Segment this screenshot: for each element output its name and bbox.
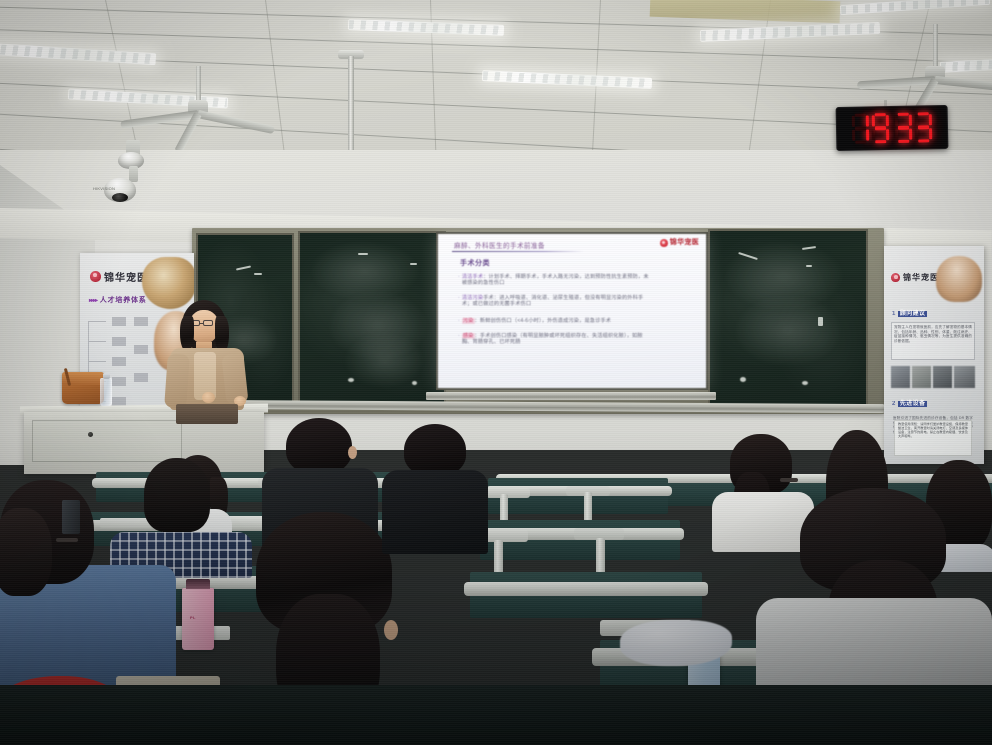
bullet-text: ：手术创伤口感染（有明显脓肿或坏死组织存在、失活组织化脓），如脓胸、胃肠穿孔、已… xyxy=(462,333,643,345)
clock-minutes xyxy=(895,112,933,143)
bench-arm xyxy=(486,488,530,498)
bench-rail xyxy=(464,582,708,596)
blackboard-panel-2 xyxy=(298,231,446,406)
brand-mark-icon xyxy=(891,273,900,282)
banner-section-2-title: 2 先进设备 xyxy=(892,398,927,407)
student-ear xyxy=(384,620,398,640)
wall-notice-sign: 教室使用须知：请同学们爱护教室设施，保持教室整洁卫生，离开教室时请关闭电灯、空调… xyxy=(894,420,972,456)
bullet-keyword: 污染 xyxy=(462,318,475,324)
bench-post xyxy=(584,492,592,522)
handbag xyxy=(62,372,104,404)
student-hair xyxy=(404,424,466,476)
ceiling-vent xyxy=(650,0,841,23)
lecturer-skirt xyxy=(176,404,238,424)
student-ear xyxy=(348,446,357,459)
student-glasses-arm xyxy=(780,478,798,482)
arrow-icon: ▸▸▸▸ xyxy=(89,298,97,304)
pink-water-bottle: PL xyxy=(182,588,214,650)
clock-digit xyxy=(852,113,870,143)
slide-bullet: · 污染：新鲜创伤伤口（<4-6小时），外伤造成污染，是急诊手术 xyxy=(458,318,611,324)
brand-mark-icon xyxy=(660,239,668,247)
dark-water-bottle xyxy=(62,500,80,534)
student xyxy=(128,452,224,548)
clock-digit xyxy=(872,113,890,143)
banner-section-1-label: 顾问建议 xyxy=(898,311,928,317)
banner-thumbnail xyxy=(933,366,952,388)
student-glasses-arm xyxy=(56,538,78,542)
bottle-cap xyxy=(103,373,110,379)
floor xyxy=(0,685,992,745)
bullet-dot-icon: · xyxy=(458,274,460,280)
bullet-text: 手术：进入呼吸道、消化道、泌尿生殖道，但没有明显污染的外科手术；或已做过的无菌手… xyxy=(462,295,644,307)
banner-section-2-label: 先进设备 xyxy=(898,401,928,407)
glasses-icon xyxy=(203,320,213,326)
lecturer xyxy=(160,300,260,420)
bullet-text: ：计划手术、择期手术，手术入路无污染，达到预防性抗生素预防，未被感染的急性伤口 xyxy=(462,274,649,286)
slide-heading: 手术分类 xyxy=(460,258,490,268)
banner-thumbnail xyxy=(954,366,975,388)
bullet-dot-icon: · xyxy=(458,333,460,339)
slide-title: 麻醉、外科医生的手术前准备 xyxy=(454,240,545,250)
clock-hours xyxy=(852,113,890,144)
banner-left-logo: 锦华宠医 xyxy=(90,269,148,284)
banner-left-subtitle-text: 人才培养体系 xyxy=(100,297,147,304)
banner-thumbnail xyxy=(891,366,910,388)
bullet-dot-icon: · xyxy=(458,295,460,301)
clock-digit xyxy=(895,113,913,143)
glasses-bridge-icon xyxy=(200,323,203,324)
student-body xyxy=(382,470,488,554)
banner-section-1-number: 1 xyxy=(892,311,896,317)
student-hair xyxy=(286,418,352,474)
camera-bracket xyxy=(129,166,138,182)
blackboard-panel-3 xyxy=(708,229,868,409)
slide-brand-logo: 锦华宠医 xyxy=(660,239,699,247)
slide-title-rule xyxy=(452,251,584,252)
ceiling-fan xyxy=(850,24,992,94)
bullet-dot-icon: · xyxy=(458,318,460,324)
water-bottle xyxy=(100,378,112,406)
slide-logo-text: 锦华宠医 xyxy=(670,239,699,247)
bench-post xyxy=(596,538,605,576)
banner-section-1-body: 宠物主人在宠物就医前，应先了解宠物的基本情况，包括年龄、品种、性别、体重、既往病… xyxy=(894,325,972,343)
ceiling-light-strip xyxy=(348,19,504,36)
slide-bullet: · 清洁污染手术：进入呼吸道、消化道、泌尿生殖道，但没有明显污染的外科手术；或已… xyxy=(458,295,650,308)
brand-mark-icon xyxy=(90,271,101,282)
student-hair xyxy=(144,458,210,532)
digital-clock xyxy=(836,105,949,151)
banner-section-1-title: 1 顾问建议 xyxy=(892,308,927,317)
slide-bullet: · 感染：手术创伤口感染（有明显脓肿或坏死组织存在、失活组织化脓），如脓胸、胃肠… xyxy=(458,333,650,346)
white-cloth xyxy=(620,620,732,666)
lecture-hall-photo: HIKVISION xyxy=(0,0,992,745)
podium-knob xyxy=(88,432,93,437)
bottle-cap xyxy=(186,579,210,589)
banner-pet-photo xyxy=(936,256,982,302)
camera-lens-icon xyxy=(112,193,128,202)
camera-brand-label: HIKVISION xyxy=(93,186,115,191)
slide-bullet: · 清洁手术：计划手术、择期手术，手术入路无污染，达到预防性抗生素预防，未被感染… xyxy=(458,274,650,287)
projection-screen: 锦华宠医 麻醉、外科医生的手术前准备 手术分类 · 清洁手术：计划手术、择期手术… xyxy=(436,232,708,390)
banner-section-2-number: 2 xyxy=(892,401,896,407)
banner-right-logo-text: 锦华宠医 xyxy=(903,272,939,283)
student xyxy=(0,508,54,598)
lecturer-hand xyxy=(202,392,215,403)
ceiling-fan xyxy=(118,66,278,136)
banner-left-subtitle: ▸▸▸▸ 人才培养体系 xyxy=(89,295,147,305)
ceiling-light-strip xyxy=(840,0,990,15)
ceiling-light-strip xyxy=(0,43,156,66)
banner-thumbnail xyxy=(912,366,931,388)
chalk-tray xyxy=(426,392,716,400)
banner-right-logo: 锦华宠医 xyxy=(891,272,939,283)
clock-digit xyxy=(915,112,933,142)
wall-notice-text: 教室使用须知：请同学们爱护教室设施，保持教室整洁卫生，离开教室时请关闭电灯、空调… xyxy=(898,423,968,439)
bottle-label: PL xyxy=(190,616,196,620)
student-hair xyxy=(0,508,52,596)
lecturer-hair-side xyxy=(180,316,194,352)
student xyxy=(382,424,490,556)
ceiling-light-strip xyxy=(482,70,652,89)
bullet-text: ：新鲜创伤伤口（<4-6小时），外伤造成污染，是急诊手术 xyxy=(475,318,612,324)
lecturer-arm-left xyxy=(164,353,190,408)
presentation-slide: 锦华宠医 麻醉、外科医生的手术前准备 手术分类 · 清洁手术：计划手术、择期手术… xyxy=(438,234,706,388)
